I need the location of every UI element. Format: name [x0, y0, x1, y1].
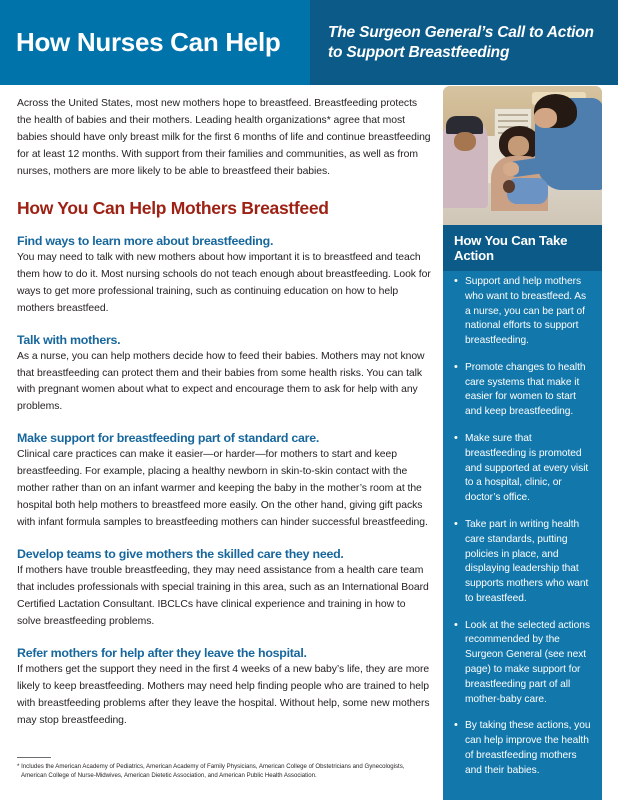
footnote-block: * Includes the American Academy of Pedia… — [17, 757, 429, 781]
subsection-body-5: If mothers get the support they need in … — [17, 662, 432, 730]
photo-nurse-hand — [503, 162, 519, 176]
subsection-body-3: Clinical care practices can make it easi… — [17, 447, 432, 532]
subsection-heading-5: Refer mothers for help after they leave … — [17, 646, 432, 660]
footnote-divider — [17, 757, 51, 758]
footnote-text: * Includes the American Academy of Pedia… — [17, 762, 429, 781]
intro-paragraph: Across the United States, most new mothe… — [17, 96, 432, 181]
subsection-body-2: As a nurse, you can help mothers decide … — [17, 349, 432, 417]
header-title-block: How Nurses Can Help — [0, 0, 310, 85]
subsection-heading-1: Find ways to learn more about breastfeed… — [17, 234, 432, 248]
sidebar-heading: How You Can Take Action — [443, 225, 602, 271]
subsection-heading-3: Make support for breastfeeding part of s… — [17, 431, 432, 445]
page-title: How Nurses Can Help — [16, 29, 280, 56]
list-item: By taking these actions, you can help im… — [454, 719, 591, 778]
subsection-heading-2: Talk with mothers. — [17, 333, 432, 347]
list-item: Make sure that breastfeeding is promoted… — [454, 432, 591, 506]
subsection-body-4: If mothers have trouble breastfeeding, t… — [17, 563, 432, 631]
list-item: Support and help mothers who want to bre… — [454, 275, 591, 349]
page-header: How Nurses Can Help The Surgeon General’… — [0, 0, 618, 85]
sidebar-action-list-container: Support and help mothers who want to bre… — [443, 271, 602, 800]
list-item: Take part in writing health care standar… — [454, 518, 591, 607]
sidebar: How You Can Take Action Support and help… — [443, 86, 602, 766]
fact-sheet-page: How Nurses Can Help The Surgeon General’… — [0, 0, 618, 800]
list-item: Look at the selected actions recommended… — [454, 619, 591, 708]
photo-mother-face — [508, 136, 529, 156]
list-item: Promote changes to health care systems t… — [454, 361, 591, 420]
subsection-heading-4: Develop teams to give mothers the skille… — [17, 547, 432, 561]
page-subtitle: The Surgeon General’s Call to Action to … — [328, 23, 608, 62]
subsection-body-1: You may need to talk with new mothers ab… — [17, 250, 432, 318]
section-title: How You Can Help Mothers Breastfeed — [17, 198, 432, 219]
photo-nurse-face — [534, 108, 558, 128]
main-content-column: Across the United States, most new mothe… — [17, 96, 432, 730]
sidebar-action-list: Support and help mothers who want to bre… — [454, 275, 591, 778]
photo-man-face — [454, 132, 476, 151]
hospital-photo — [443, 86, 602, 225]
header-subtitle-block: The Surgeon General’s Call to Action to … — [310, 0, 618, 85]
